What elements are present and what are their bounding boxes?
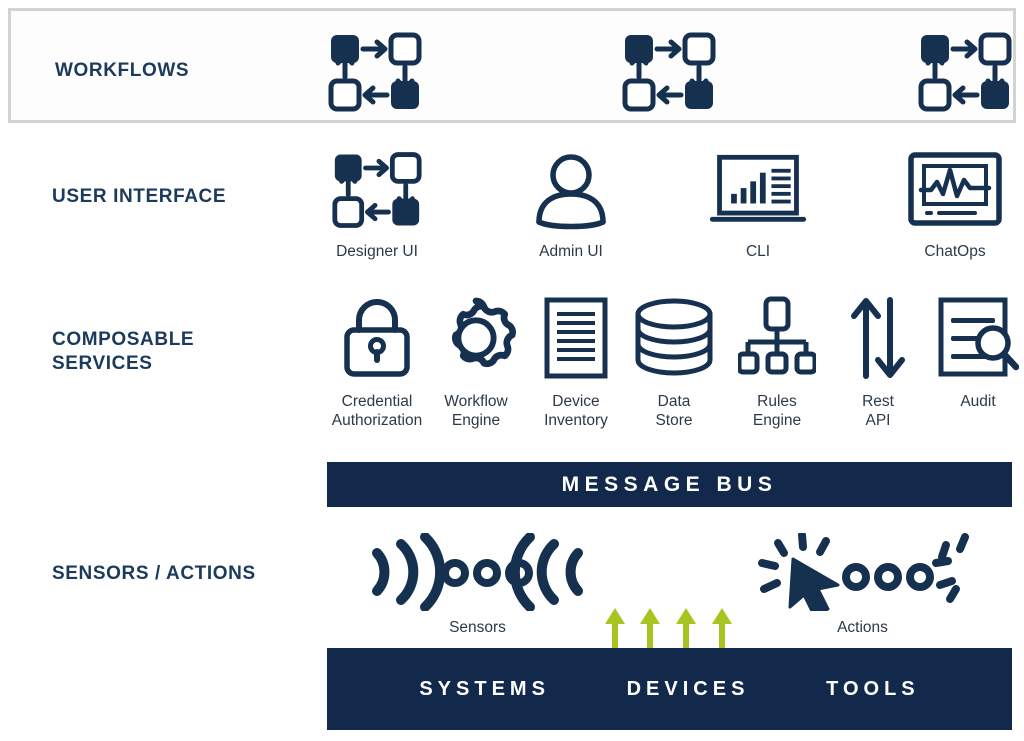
workflow-cycle-icon: [917, 31, 1013, 118]
service-workflow-engine[interactable]: Workflow Engine: [424, 296, 528, 431]
service-label: Credential Authorization: [332, 392, 422, 431]
bottom-bar-label-tools: TOOLS: [826, 678, 920, 701]
bottom-systems-bar: SYSTEMS DEVICES TOOLS: [327, 648, 1012, 730]
service-label: Rules Engine: [753, 392, 801, 431]
service-credential-authorization[interactable]: Credential Authorization: [318, 296, 436, 431]
ui-item-label: Designer UI: [336, 242, 418, 261]
service-label: Workflow Engine: [444, 392, 507, 431]
row-label-sensors-actions: SENSORS / ACTIONS: [52, 562, 256, 586]
row-label-workflows: WORKFLOWS: [55, 59, 189, 83]
up-down-arrows-icon: [847, 296, 909, 385]
bottom-bar-label-systems: SYSTEMS: [419, 678, 550, 701]
cursor-click-icon: [750, 533, 975, 616]
workflow-cycle-icon: [621, 31, 717, 118]
service-device-inventory[interactable]: Device Inventory: [524, 296, 628, 431]
signal-waves-icon: [365, 533, 590, 616]
workflow-cycle-icon: [327, 31, 423, 118]
workflows-band: WORKFLOWS: [8, 8, 1016, 123]
ui-item-label: ChatOps: [924, 242, 985, 261]
service-label: Audit: [960, 392, 995, 411]
monitor-waveform-icon: [907, 150, 1003, 235]
ui-item-cli[interactable]: CLI: [694, 150, 822, 261]
row-label-user-interface: USER INTERFACE: [52, 185, 226, 209]
ui-item-label: Admin UI: [539, 242, 603, 261]
message-bus-bar: MESSAGE BUS: [327, 462, 1012, 507]
workflow-cycle-icon: [331, 150, 423, 235]
service-data-store[interactable]: Data Store: [630, 296, 718, 431]
row-label-composable-services: COMPOSABLE SERVICES: [52, 328, 194, 376]
bottom-bar-label-devices: DEVICES: [627, 678, 750, 701]
gear-icon: [434, 296, 518, 385]
service-audit[interactable]: Audit: [934, 296, 1022, 411]
ui-item-chatops[interactable]: ChatOps: [890, 150, 1020, 261]
service-rest-api[interactable]: Rest API: [836, 296, 920, 431]
sensors-label: Sensors: [449, 618, 506, 637]
message-bus-label: MESSAGE BUS: [562, 473, 778, 497]
padlock-icon: [341, 296, 413, 385]
sensors-item[interactable]: Sensors: [355, 533, 600, 637]
service-label: Rest API: [862, 392, 894, 431]
document-magnifier-icon: [937, 296, 1019, 385]
ui-item-admin-ui[interactable]: Admin UI: [508, 150, 634, 261]
actions-item[interactable]: Actions: [740, 533, 985, 637]
service-rules-engine[interactable]: Rules Engine: [730, 296, 824, 431]
laptop-chart-icon: [708, 150, 808, 235]
hierarchy-tree-icon: [738, 296, 816, 385]
ui-item-label: CLI: [746, 242, 770, 261]
user-person-icon: [531, 150, 611, 235]
actions-label: Actions: [837, 618, 888, 637]
document-lines-icon: [542, 296, 610, 385]
ui-item-designer-ui[interactable]: Designer UI: [312, 150, 442, 261]
architecture-diagram: WORKFLOWS: [0, 0, 1024, 741]
database-cylinder-icon: [632, 296, 716, 385]
service-label: Device Inventory: [544, 392, 608, 431]
service-label: Data Store: [655, 392, 692, 431]
